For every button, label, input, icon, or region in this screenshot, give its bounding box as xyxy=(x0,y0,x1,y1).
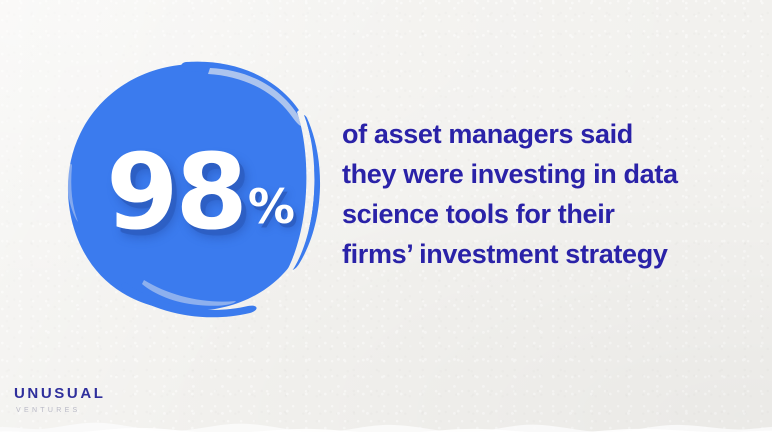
stat-card: 98 % of asset managers said they were in… xyxy=(0,0,772,432)
headline-line-2: they were investing in data xyxy=(342,154,742,194)
headline-line-1: of asset managers said xyxy=(342,114,742,154)
logo-tagline: VENTURES xyxy=(16,407,106,414)
brush-circle-graphic xyxy=(58,56,330,318)
brand-logo: UNUSUAL VENTURES xyxy=(14,386,106,414)
torn-paper-edge xyxy=(0,406,772,432)
headline-line-4: firms’ investment strategy xyxy=(342,234,742,274)
headline-line-3: science tools for their xyxy=(342,194,742,234)
logo-wordmark: UNUSUAL xyxy=(14,386,106,401)
headline-text: of asset managers said they were investi… xyxy=(342,114,742,274)
